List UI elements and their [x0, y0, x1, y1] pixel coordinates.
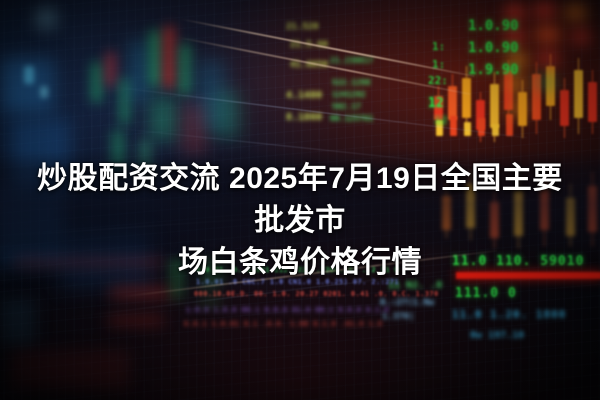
cover-image: 1.0.90 1.0.90 1.9.90 1: 1: 22: 12 12 21.…	[0, 0, 600, 400]
headline-line-2: 场白条鸡价格行情	[26, 242, 574, 284]
page-title: 炒股配资交流 2025年7月19日全国主要批发市 场白条鸡价格行情	[0, 158, 600, 284]
headline-line-1: 炒股配资交流 2025年7月19日全国主要批发市	[26, 158, 574, 242]
